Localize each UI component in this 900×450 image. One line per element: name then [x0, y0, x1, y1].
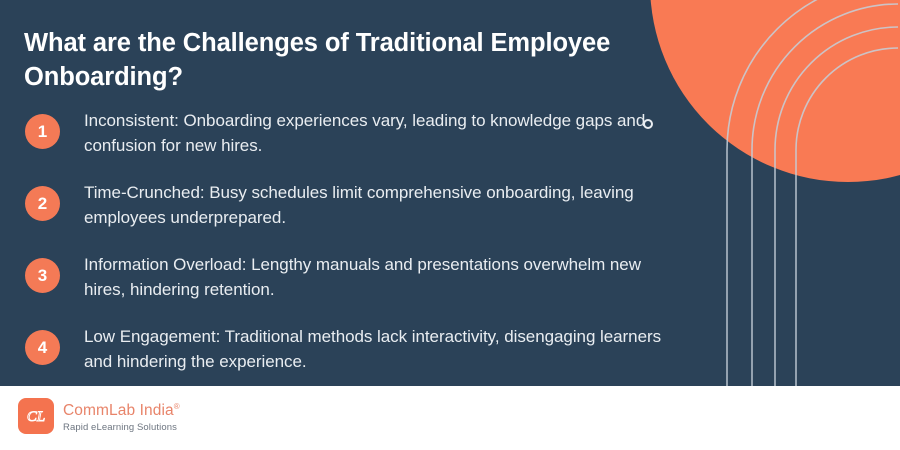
brand-logo-text: CommLab India® Rapid eLearning Solutions: [63, 398, 180, 433]
list-item-text: Information Overload: Lengthy manuals an…: [84, 252, 682, 302]
brand-name-label: CommLab India: [63, 403, 174, 420]
footer-bar: CL CommLab India® Rapid eLearning Soluti…: [0, 386, 900, 450]
list-item-number-badge: 3: [25, 258, 60, 293]
challenges-list: 1 Inconsistent: Onboarding experiences v…: [22, 108, 682, 374]
brand-logo: CL CommLab India® Rapid eLearning Soluti…: [18, 398, 180, 434]
brand-tagline: Rapid eLearning Solutions: [63, 421, 180, 434]
accent-circle: [650, 0, 900, 182]
registered-trademark-icon: ®: [174, 402, 180, 411]
list-item-text: Inconsistent: Onboarding experiences var…: [84, 108, 682, 158]
page-title: What are the Challenges of Traditional E…: [24, 27, 614, 94]
list-item-number-badge: 4: [25, 330, 60, 365]
list-item-text: Low Engagement: Traditional methods lack…: [84, 324, 682, 374]
list-item: 3 Information Overload: Lengthy manuals …: [22, 252, 682, 302]
list-item: 1 Inconsistent: Onboarding experiences v…: [22, 108, 682, 158]
list-item-number-badge: 1: [25, 114, 60, 149]
list-item-text: Time-Crunched: Busy schedules limit comp…: [84, 180, 682, 230]
brand-name: CommLab India®: [63, 398, 180, 419]
commlab-monogram-icon: CL: [18, 398, 54, 434]
list-item-number-badge: 2: [25, 186, 60, 221]
list-item: 4 Low Engagement: Traditional methods la…: [22, 324, 682, 374]
infographic-slide: What are the Challenges of Traditional E…: [0, 0, 900, 450]
list-item: 2 Time-Crunched: Busy schedules limit co…: [22, 180, 682, 230]
svg-text:CL: CL: [27, 409, 45, 425]
concentric-arcs: [727, 0, 898, 386]
